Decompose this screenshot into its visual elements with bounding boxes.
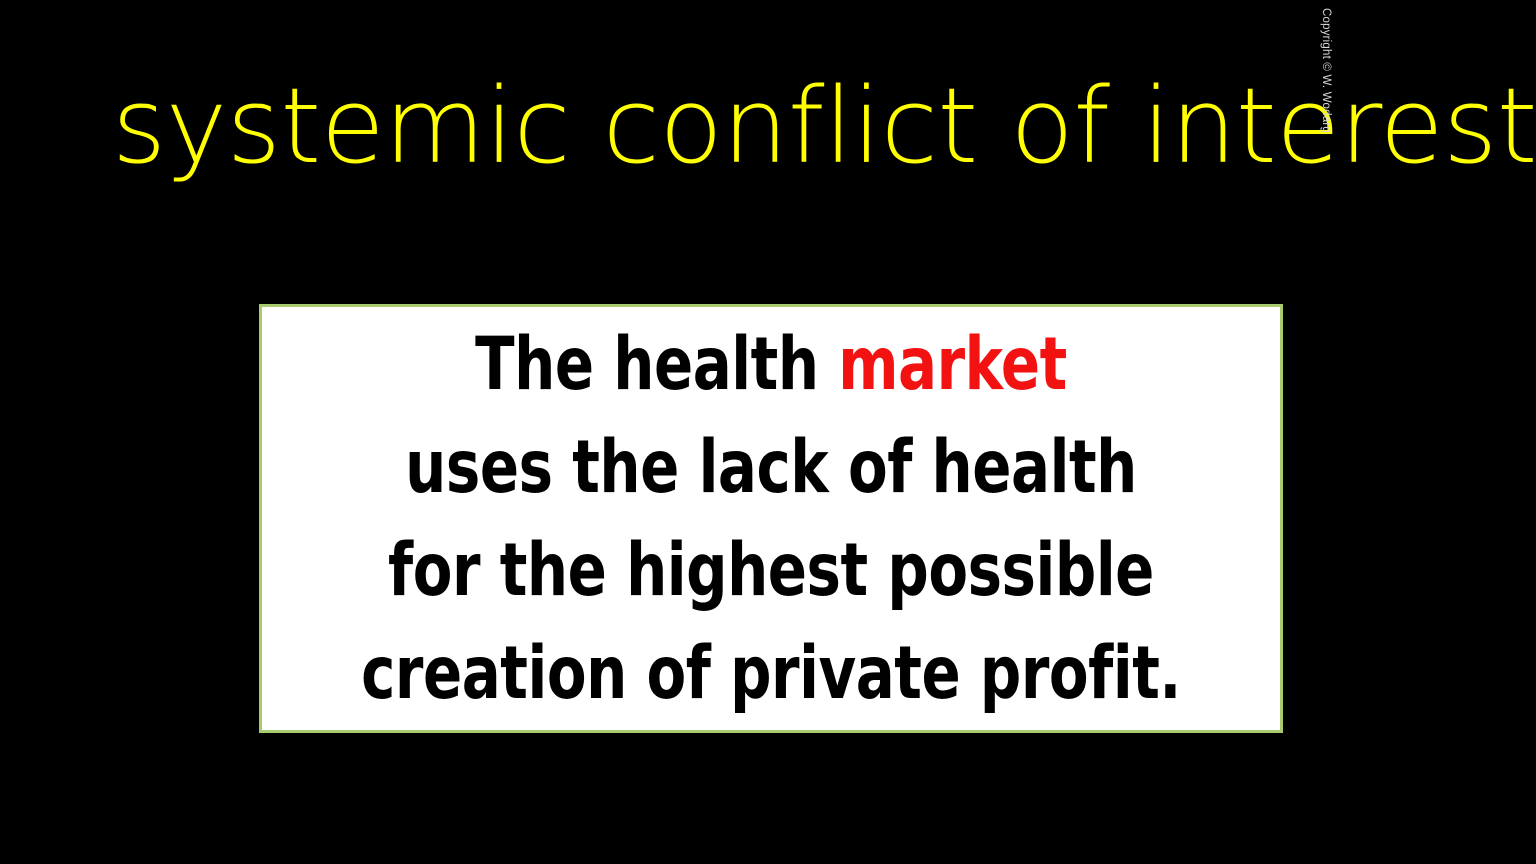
quote-line: for the highest possible [323,519,1219,622]
quote-line-1-highlight: market [838,322,1067,407]
quote-line: creation of private profit. [323,622,1219,725]
quote-text: The health market uses the lack of healt… [323,313,1219,725]
quote-box: The health market uses the lack of healt… [259,304,1283,733]
copyright-notice: Copyright © W. Wodarg [1318,8,1334,228]
quote-line-4-before: creation of private profit. [361,631,1181,716]
quote-line-3-before: for the highest possible [388,528,1154,613]
quote-line: The health market [323,313,1219,416]
quote-line: uses the lack of health [323,416,1219,519]
quote-line-2-before: uses the lack of health [405,425,1137,510]
presentation-slide: systemic conflict of interests Copyright… [0,0,1536,864]
page-title: systemic conflict of interests [112,66,1302,186]
quote-line-1-before: The health [475,322,838,407]
